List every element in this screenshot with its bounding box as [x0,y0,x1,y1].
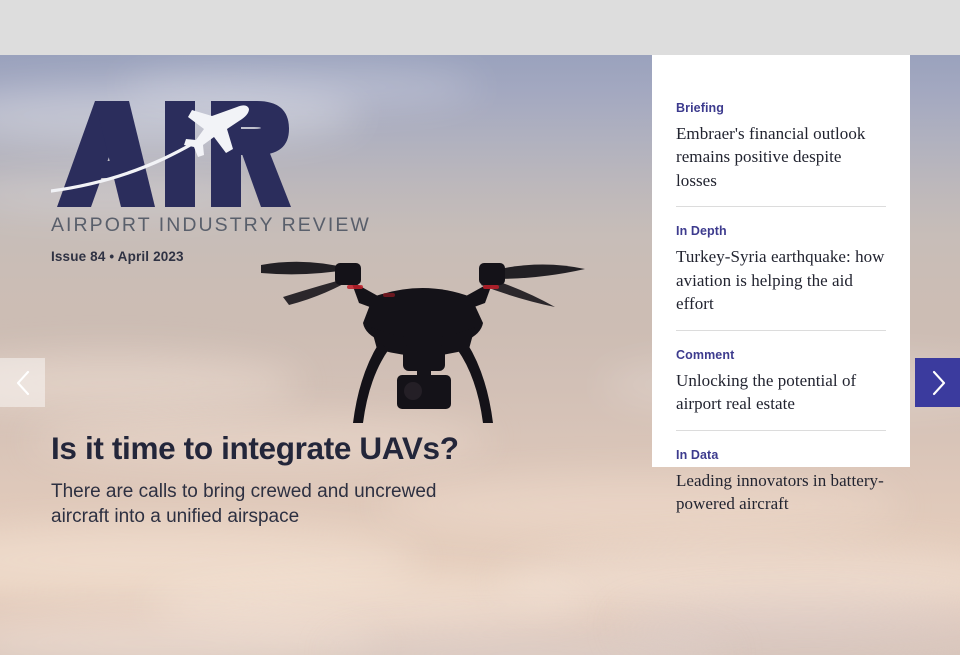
chevron-left-icon [14,369,32,397]
article-list-item[interactable]: In Depth Turkey-Syria earthquake: how av… [676,206,886,329]
drone-illustration [255,245,595,425]
publication-logo-block: AIRPORT INDUSTRY REVIEW Issue 84 • April… [51,99,471,264]
magazine-cover-page: AIRPORT INDUSTRY REVIEW Issue 84 • April… [0,0,960,655]
carousel-next-button[interactable] [915,358,960,407]
page-top-strip [0,0,960,55]
article-kicker: Comment [676,348,886,362]
article-list-item[interactable]: In Data Leading innovators in battery-po… [676,430,886,516]
article-list-item[interactable]: Comment Unlocking the potential of airpo… [676,330,886,430]
cover-headline[interactable]: Is it time to integrate UAVs? [51,431,571,466]
air-wordmark [51,99,291,211]
issue-date-line: Issue 84 • April 2023 [51,249,471,264]
featured-articles-panel: Briefing Embraer's financial outlook rem… [652,55,910,467]
article-kicker: Briefing [676,101,886,115]
article-title[interactable]: Unlocking the potential of airport real … [676,369,886,416]
article-kicker: In Depth [676,224,886,238]
chevron-right-icon [929,369,947,397]
publication-tagline: AIRPORT INDUSTRY REVIEW [51,214,471,237]
cover-text-block: Is it time to integrate UAVs? There are … [51,431,571,529]
article-kicker: In Data [676,448,886,462]
carousel-prev-button[interactable] [0,358,45,407]
article-title[interactable]: Turkey-Syria earthquake: how aviation is… [676,245,886,315]
cover-standfirst: There are calls to bring crewed and uncr… [51,480,481,529]
article-title[interactable]: Embraer's financial outlook remains posi… [676,122,886,192]
article-list-item[interactable]: Briefing Embraer's financial outlook rem… [676,101,886,206]
article-title[interactable]: Leading innovators in battery-powered ai… [676,469,886,516]
